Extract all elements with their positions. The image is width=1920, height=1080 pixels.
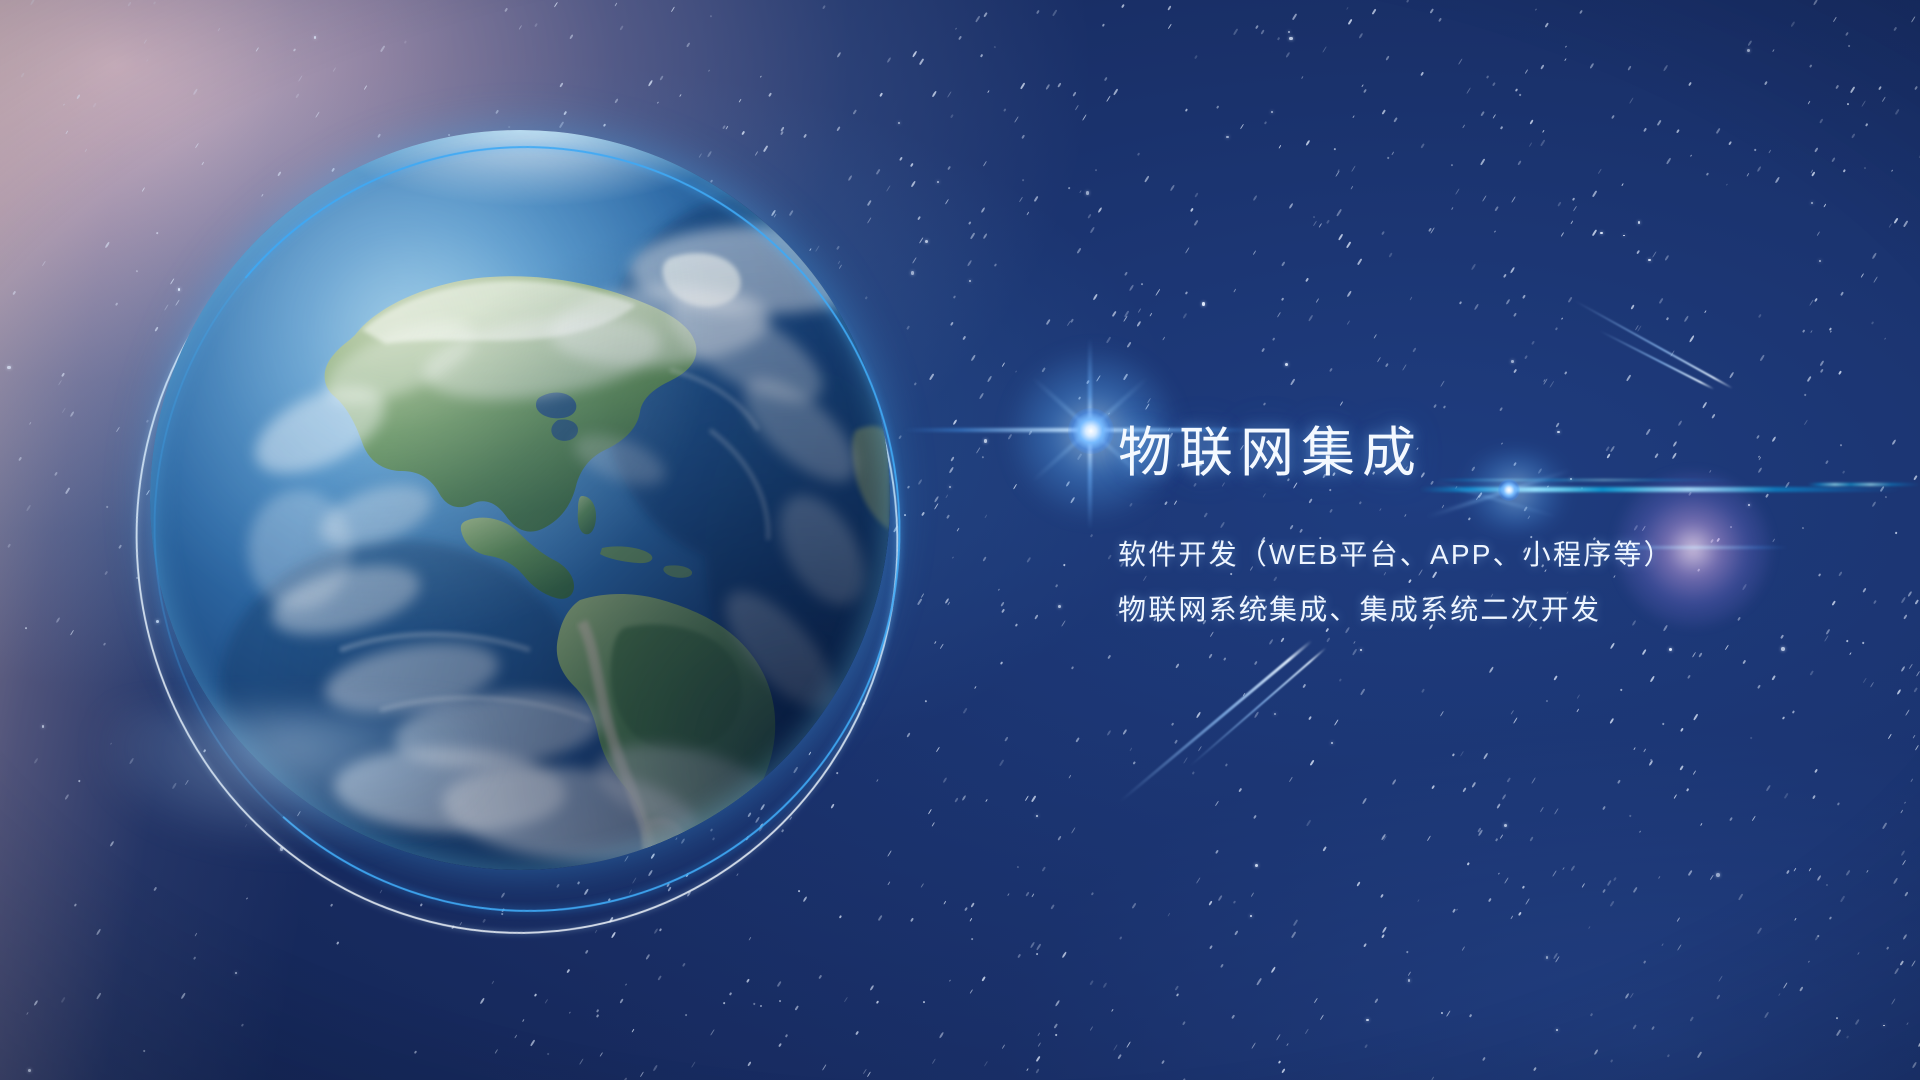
star (1632, 1024, 1636, 1029)
star (1809, 299, 1814, 306)
star (738, 98, 741, 102)
star (181, 993, 186, 1000)
star (1090, 892, 1093, 895)
star (1451, 207, 1454, 210)
star (1901, 596, 1907, 603)
star (1540, 807, 1544, 813)
star (1427, 835, 1431, 840)
star (414, 1050, 418, 1054)
star (939, 644, 943, 649)
star-bright (42, 725, 44, 727)
star (659, 75, 663, 80)
star (931, 823, 935, 828)
star (615, 3, 618, 7)
star (1531, 777, 1536, 784)
star (1456, 908, 1458, 911)
star (1291, 931, 1296, 938)
star (1210, 632, 1214, 637)
star (1168, 24, 1172, 30)
star (1441, 380, 1446, 387)
star (1505, 878, 1510, 885)
star (1346, 7, 1348, 10)
star (596, 1010, 599, 1013)
star (1346, 320, 1350, 325)
star (1281, 638, 1285, 643)
star (934, 503, 939, 509)
star (1462, 787, 1466, 792)
star (380, 46, 385, 53)
star (194, 932, 197, 936)
star (1289, 777, 1293, 783)
star (1290, 379, 1295, 386)
star (480, 998, 485, 1005)
star (530, 1039, 535, 1046)
star (1333, 148, 1336, 151)
star (1149, 312, 1152, 316)
star (21, 73, 25, 78)
star (1001, 609, 1004, 613)
star (1862, 587, 1867, 593)
star (1063, 564, 1066, 567)
star (1107, 554, 1111, 559)
star (838, 915, 841, 918)
star (963, 707, 967, 713)
star (1629, 97, 1634, 104)
star (1406, 0, 1409, 3)
star (1466, 87, 1471, 94)
star (1591, 191, 1596, 198)
star (1090, 226, 1096, 233)
star (1440, 710, 1445, 716)
star (921, 883, 925, 888)
star (802, 895, 807, 901)
star (404, 40, 408, 44)
star (534, 993, 537, 997)
star (1802, 329, 1805, 333)
star (1351, 165, 1356, 172)
star (955, 27, 957, 30)
star (1353, 641, 1355, 644)
star (946, 515, 949, 519)
star (1512, 196, 1517, 203)
star (1900, 810, 1903, 814)
star-bright (1716, 873, 1720, 877)
star (619, 998, 623, 1003)
star (1662, 625, 1668, 632)
star (70, 630, 74, 636)
star (1045, 84, 1050, 90)
star (1144, 175, 1149, 182)
star (1402, 364, 1407, 370)
star (1393, 118, 1397, 123)
star (26, 1012, 28, 1015)
star (1896, 689, 1901, 695)
star (954, 797, 958, 802)
star (878, 915, 883, 921)
star (29, 0, 34, 5)
star (1560, 232, 1563, 237)
star (961, 795, 966, 801)
star (1636, 250, 1640, 255)
star (1092, 294, 1098, 301)
star (1021, 135, 1024, 139)
star (843, 996, 847, 1002)
star (942, 776, 947, 782)
star (1888, 223, 1892, 228)
star (1406, 951, 1409, 954)
star (1873, 600, 1877, 605)
star (679, 94, 682, 97)
star (1644, 749, 1647, 753)
star (1194, 55, 1198, 60)
star-bright (1819, 260, 1821, 262)
star (1000, 662, 1003, 666)
star (1780, 635, 1783, 639)
star (1155, 289, 1160, 296)
star (1829, 916, 1832, 920)
star-bright (1408, 979, 1411, 982)
star (1882, 822, 1887, 829)
star (333, 67, 337, 72)
star (96, 992, 101, 999)
star (1630, 305, 1634, 310)
star (1421, 143, 1425, 148)
star (1573, 206, 1577, 212)
star (1388, 253, 1392, 258)
star (776, 981, 781, 987)
star (863, 1069, 867, 1075)
star (1518, 912, 1522, 916)
star (1687, 675, 1691, 679)
star (105, 241, 110, 248)
star-bright (1638, 221, 1641, 224)
star (976, 447, 981, 453)
star (1893, 27, 1896, 31)
star (1373, 334, 1377, 339)
star (1806, 376, 1811, 382)
star (1291, 13, 1296, 20)
star (1054, 1000, 1060, 1007)
star (1466, 862, 1469, 865)
star (1846, 639, 1849, 642)
star (1588, 926, 1591, 929)
star (1194, 192, 1198, 197)
star (1903, 934, 1908, 940)
star (1850, 86, 1855, 93)
star (1363, 942, 1367, 947)
star (1752, 816, 1756, 821)
star (1443, 405, 1446, 409)
star (899, 157, 903, 161)
star (1842, 169, 1845, 172)
star (1905, 710, 1910, 717)
star (921, 593, 925, 598)
star (1764, 81, 1768, 86)
star (1811, 172, 1815, 177)
star (971, 937, 974, 940)
star (1001, 362, 1005, 367)
star (611, 932, 616, 939)
star (1643, 128, 1646, 132)
star (1353, 115, 1356, 118)
star (330, 903, 333, 907)
star (1729, 816, 1733, 821)
star (514, 1034, 517, 1038)
star (964, 907, 968, 912)
star (1738, 893, 1743, 900)
star (1690, 154, 1692, 157)
star (1893, 218, 1897, 224)
star (1481, 112, 1485, 117)
star (1626, 375, 1631, 382)
star (519, 25, 522, 30)
star (798, 890, 801, 893)
star (1234, 931, 1238, 936)
star (1272, 337, 1275, 341)
star (33, 1000, 38, 1006)
star (974, 686, 976, 689)
star (1256, 978, 1261, 985)
star (84, 148, 87, 152)
star (1042, 866, 1046, 871)
star (1281, 262, 1285, 267)
star (61, 997, 66, 1003)
star (917, 479, 922, 485)
star (1643, 960, 1646, 964)
star-bright (1250, 915, 1252, 917)
star (600, 1052, 604, 1057)
star (985, 515, 988, 519)
star (240, 1023, 244, 1027)
star (1564, 58, 1567, 61)
star (1849, 652, 1852, 655)
star (1794, 919, 1796, 922)
star-bright (1271, 111, 1273, 113)
star (1673, 794, 1677, 799)
star (1633, 886, 1637, 892)
star (1357, 881, 1361, 886)
star (1716, 994, 1721, 999)
star (1503, 274, 1507, 278)
star (1431, 785, 1435, 790)
star (1459, 301, 1462, 304)
star (1686, 788, 1689, 791)
star (1280, 297, 1283, 301)
star (1277, 311, 1282, 317)
star (596, 1014, 599, 1017)
star (1886, 946, 1889, 950)
star (936, 746, 940, 752)
star-bright (1202, 302, 1206, 306)
star (1677, 944, 1682, 950)
star (985, 799, 987, 802)
star (1363, 88, 1367, 92)
star (1417, 899, 1420, 902)
star-bright (1086, 191, 1090, 195)
star (26, 505, 31, 512)
banner-copy: 物联网集成 软件开发（WEB平台、APP、小程序等） 物联网系统集成、集成系统二… (1118, 424, 1838, 624)
star (1305, 278, 1308, 282)
star (1007, 893, 1010, 896)
star (1754, 149, 1756, 152)
star (1517, 160, 1521, 165)
star (78, 779, 81, 782)
star (1525, 898, 1530, 905)
star (1611, 115, 1615, 119)
star (1837, 802, 1840, 805)
star (658, 975, 662, 980)
star (1543, 131, 1545, 134)
star (116, 426, 120, 432)
subtitle-line-2: 物联网系统集成、集成系统二次开发 (1118, 596, 1838, 624)
star (1895, 532, 1897, 535)
star (945, 495, 948, 499)
star (1387, 156, 1389, 159)
star (1126, 1041, 1131, 1048)
star (56, 617, 61, 623)
star (1433, 404, 1437, 409)
star (934, 495, 940, 502)
star (1506, 299, 1511, 305)
star (1359, 689, 1364, 696)
star (768, 93, 771, 97)
star (1223, 657, 1226, 661)
star (931, 1059, 935, 1064)
star (1531, 341, 1534, 345)
star (1530, 119, 1534, 124)
star (1544, 22, 1548, 27)
star (1017, 954, 1021, 958)
star (1253, 661, 1257, 665)
star (568, 1012, 570, 1015)
star (1286, 52, 1291, 58)
star (1420, 72, 1423, 76)
star-bright (235, 972, 237, 974)
star (1171, 722, 1174, 726)
star (1338, 233, 1343, 240)
star (142, 1049, 145, 1052)
star (1357, 258, 1362, 265)
star (1840, 291, 1843, 295)
star (1494, 230, 1496, 232)
star (1108, 654, 1111, 658)
star (1075, 105, 1079, 111)
star (1486, 75, 1489, 79)
star (1004, 737, 1009, 742)
star (747, 1061, 751, 1066)
star (1499, 126, 1502, 129)
star (1381, 926, 1386, 933)
star (1630, 992, 1634, 998)
star (192, 956, 195, 960)
star (1836, 1017, 1839, 1020)
star (1138, 308, 1142, 313)
star (887, 882, 890, 886)
star (1845, 32, 1849, 36)
star (1208, 654, 1212, 659)
star (984, 1060, 989, 1066)
star (760, 1005, 763, 1008)
star (1498, 872, 1500, 874)
star (1176, 994, 1179, 997)
star (570, 34, 574, 39)
star (1001, 601, 1006, 607)
star (653, 928, 658, 934)
star (1014, 116, 1019, 122)
star (1137, 152, 1141, 156)
star (1068, 774, 1071, 778)
star (912, 257, 916, 263)
star (1253, 195, 1258, 201)
star (1540, 65, 1544, 70)
star (1590, 1013, 1593, 1016)
star (1021, 178, 1024, 181)
star (1768, 150, 1771, 154)
star (1127, 342, 1131, 348)
star (982, 977, 986, 982)
star (1778, 993, 1781, 996)
star (1255, 24, 1259, 29)
star (119, 544, 122, 548)
star (1117, 1055, 1121, 1060)
star-bright (1226, 136, 1229, 139)
star (1438, 18, 1442, 22)
star (917, 598, 922, 605)
star-bright (1366, 1019, 1369, 1022)
star (1567, 297, 1571, 303)
star (1020, 83, 1025, 90)
star (1549, 381, 1554, 388)
star (1572, 197, 1576, 201)
star (1409, 296, 1412, 300)
star (1916, 671, 1920, 677)
star (1621, 183, 1624, 186)
star (1846, 1035, 1849, 1039)
star (1289, 203, 1294, 209)
star-bright (1360, 649, 1363, 652)
star (970, 355, 975, 362)
star (950, 322, 954, 326)
star (1055, 1033, 1058, 1036)
star (1870, 682, 1874, 688)
star (1133, 761, 1136, 764)
star (1488, 898, 1492, 903)
star (1832, 157, 1836, 162)
star (1026, 557, 1031, 563)
star (1495, 838, 1498, 841)
star (1894, 967, 1899, 974)
star (1689, 336, 1695, 344)
star (746, 979, 749, 983)
star (1102, 982, 1107, 989)
star (1799, 986, 1804, 991)
star (1819, 118, 1824, 123)
star (1413, 348, 1417, 353)
star (1903, 221, 1908, 228)
star (1421, 689, 1424, 693)
star (1027, 1068, 1030, 1071)
lens-flare-star (1068, 408, 1114, 454)
star (1161, 1060, 1165, 1065)
star (1308, 716, 1312, 721)
star (1286, 1042, 1289, 1045)
star (753, 1003, 755, 1006)
star (1493, 114, 1497, 119)
star (1911, 16, 1916, 22)
star (1391, 779, 1396, 785)
star (1911, 1061, 1917, 1068)
star (1809, 64, 1812, 68)
